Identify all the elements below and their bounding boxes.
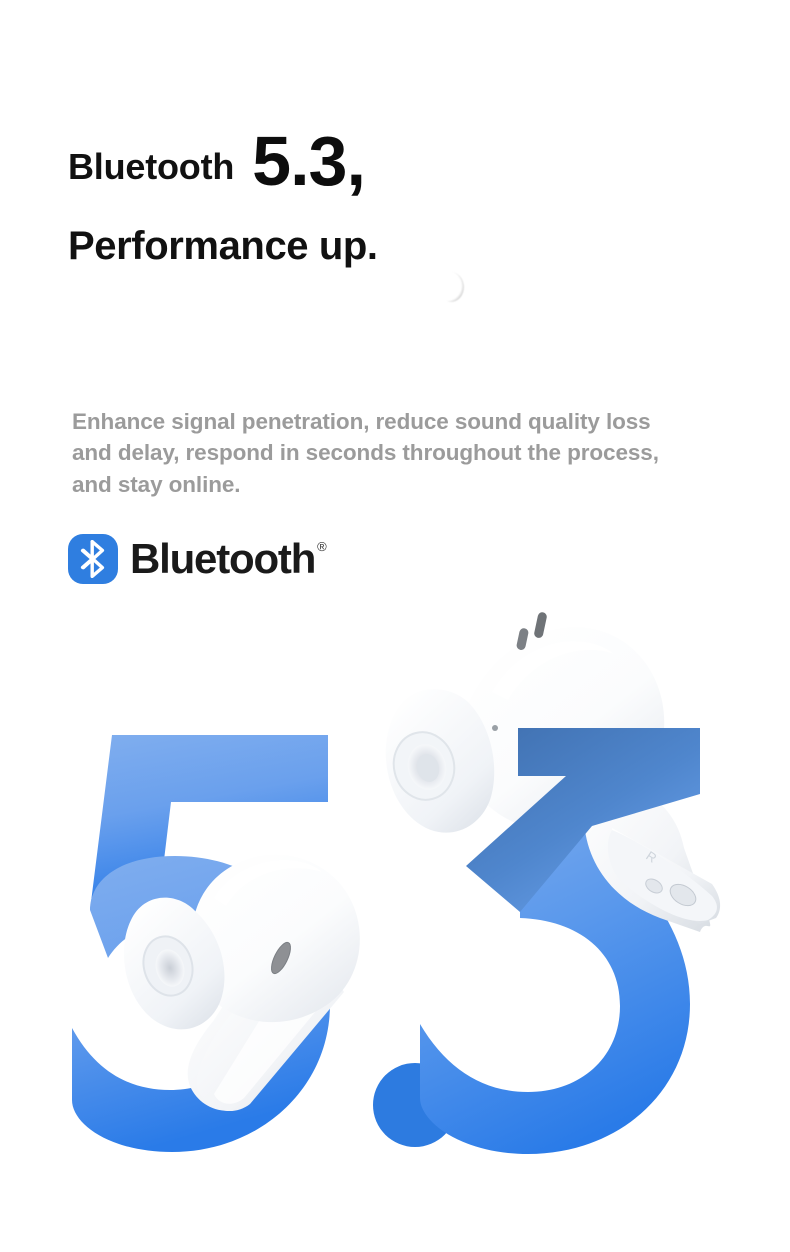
- bluetooth-rune-icon: [80, 540, 106, 578]
- image-artifact: [438, 272, 464, 302]
- bluetooth-wordmark-text: Bluetooth: [130, 538, 315, 580]
- numeral-three-top-arm: [0, 580, 790, 1180]
- bluetooth-badge: [68, 534, 118, 584]
- headline-block: Bluetooth 5.3, Performance up.: [68, 120, 748, 266]
- headline-line-1: Bluetooth 5.3,: [68, 120, 748, 198]
- headline-prefix: Bluetooth: [68, 149, 234, 185]
- bluetooth-logo-lockup: Bluetooth ®: [68, 534, 327, 584]
- body-copy: Enhance signal penetration, reduce sound…: [72, 406, 672, 502]
- headline-line-2: Performance up.: [68, 226, 748, 266]
- hero-composition: R: [0, 580, 790, 1180]
- headline-version: 5.3,: [252, 126, 365, 196]
- product-feature-banner: Bluetooth 5.3, Performance up. Enhance s…: [0, 0, 790, 1252]
- registered-trademark-mark: ®: [317, 540, 327, 553]
- bluetooth-wordmark: Bluetooth ®: [130, 538, 327, 580]
